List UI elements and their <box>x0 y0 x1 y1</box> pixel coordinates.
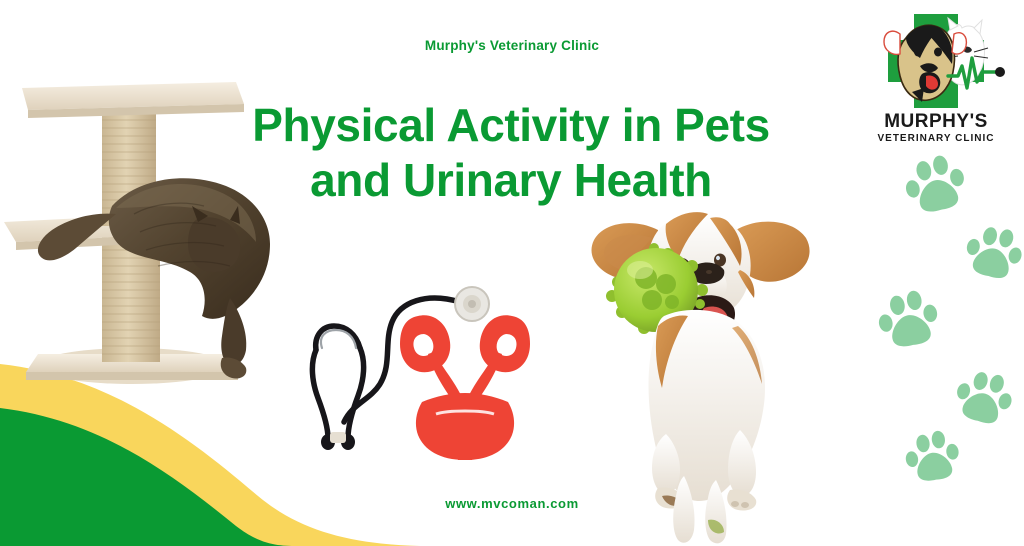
paw-print-icon <box>959 219 1024 289</box>
paw-print-icon <box>873 285 945 357</box>
logo-text: MURPHY'S VETERINARY CLINIC <box>862 112 1010 145</box>
cat-on-cat-tree-image <box>0 36 270 406</box>
clinic-logo: MURPHY'S VETERINARY CLINIC <box>862 8 1010 158</box>
headline-line-2: and Urinary Health <box>196 153 826 208</box>
running-dog-with-ball-image <box>588 208 824 544</box>
paw-print-icon <box>901 426 964 489</box>
logo-subtitle: VETERINARY CLINIC <box>862 133 1010 145</box>
vet-cross-dog-cat-icon <box>862 8 1010 116</box>
page-title: Physical Activity in Pets and Urinary He… <box>196 98 826 208</box>
paw-print-icon <box>899 149 973 223</box>
website-url: www.mvcoman.com <box>0 496 1024 511</box>
stethoscope-and-urinary-tract-image <box>300 272 552 460</box>
paw-print-icon <box>948 363 1020 435</box>
promotional-banner: Murphy's Veterinary Clinic Physical Acti… <box>0 0 1024 546</box>
headline-line-1: Physical Activity in Pets <box>252 99 770 151</box>
